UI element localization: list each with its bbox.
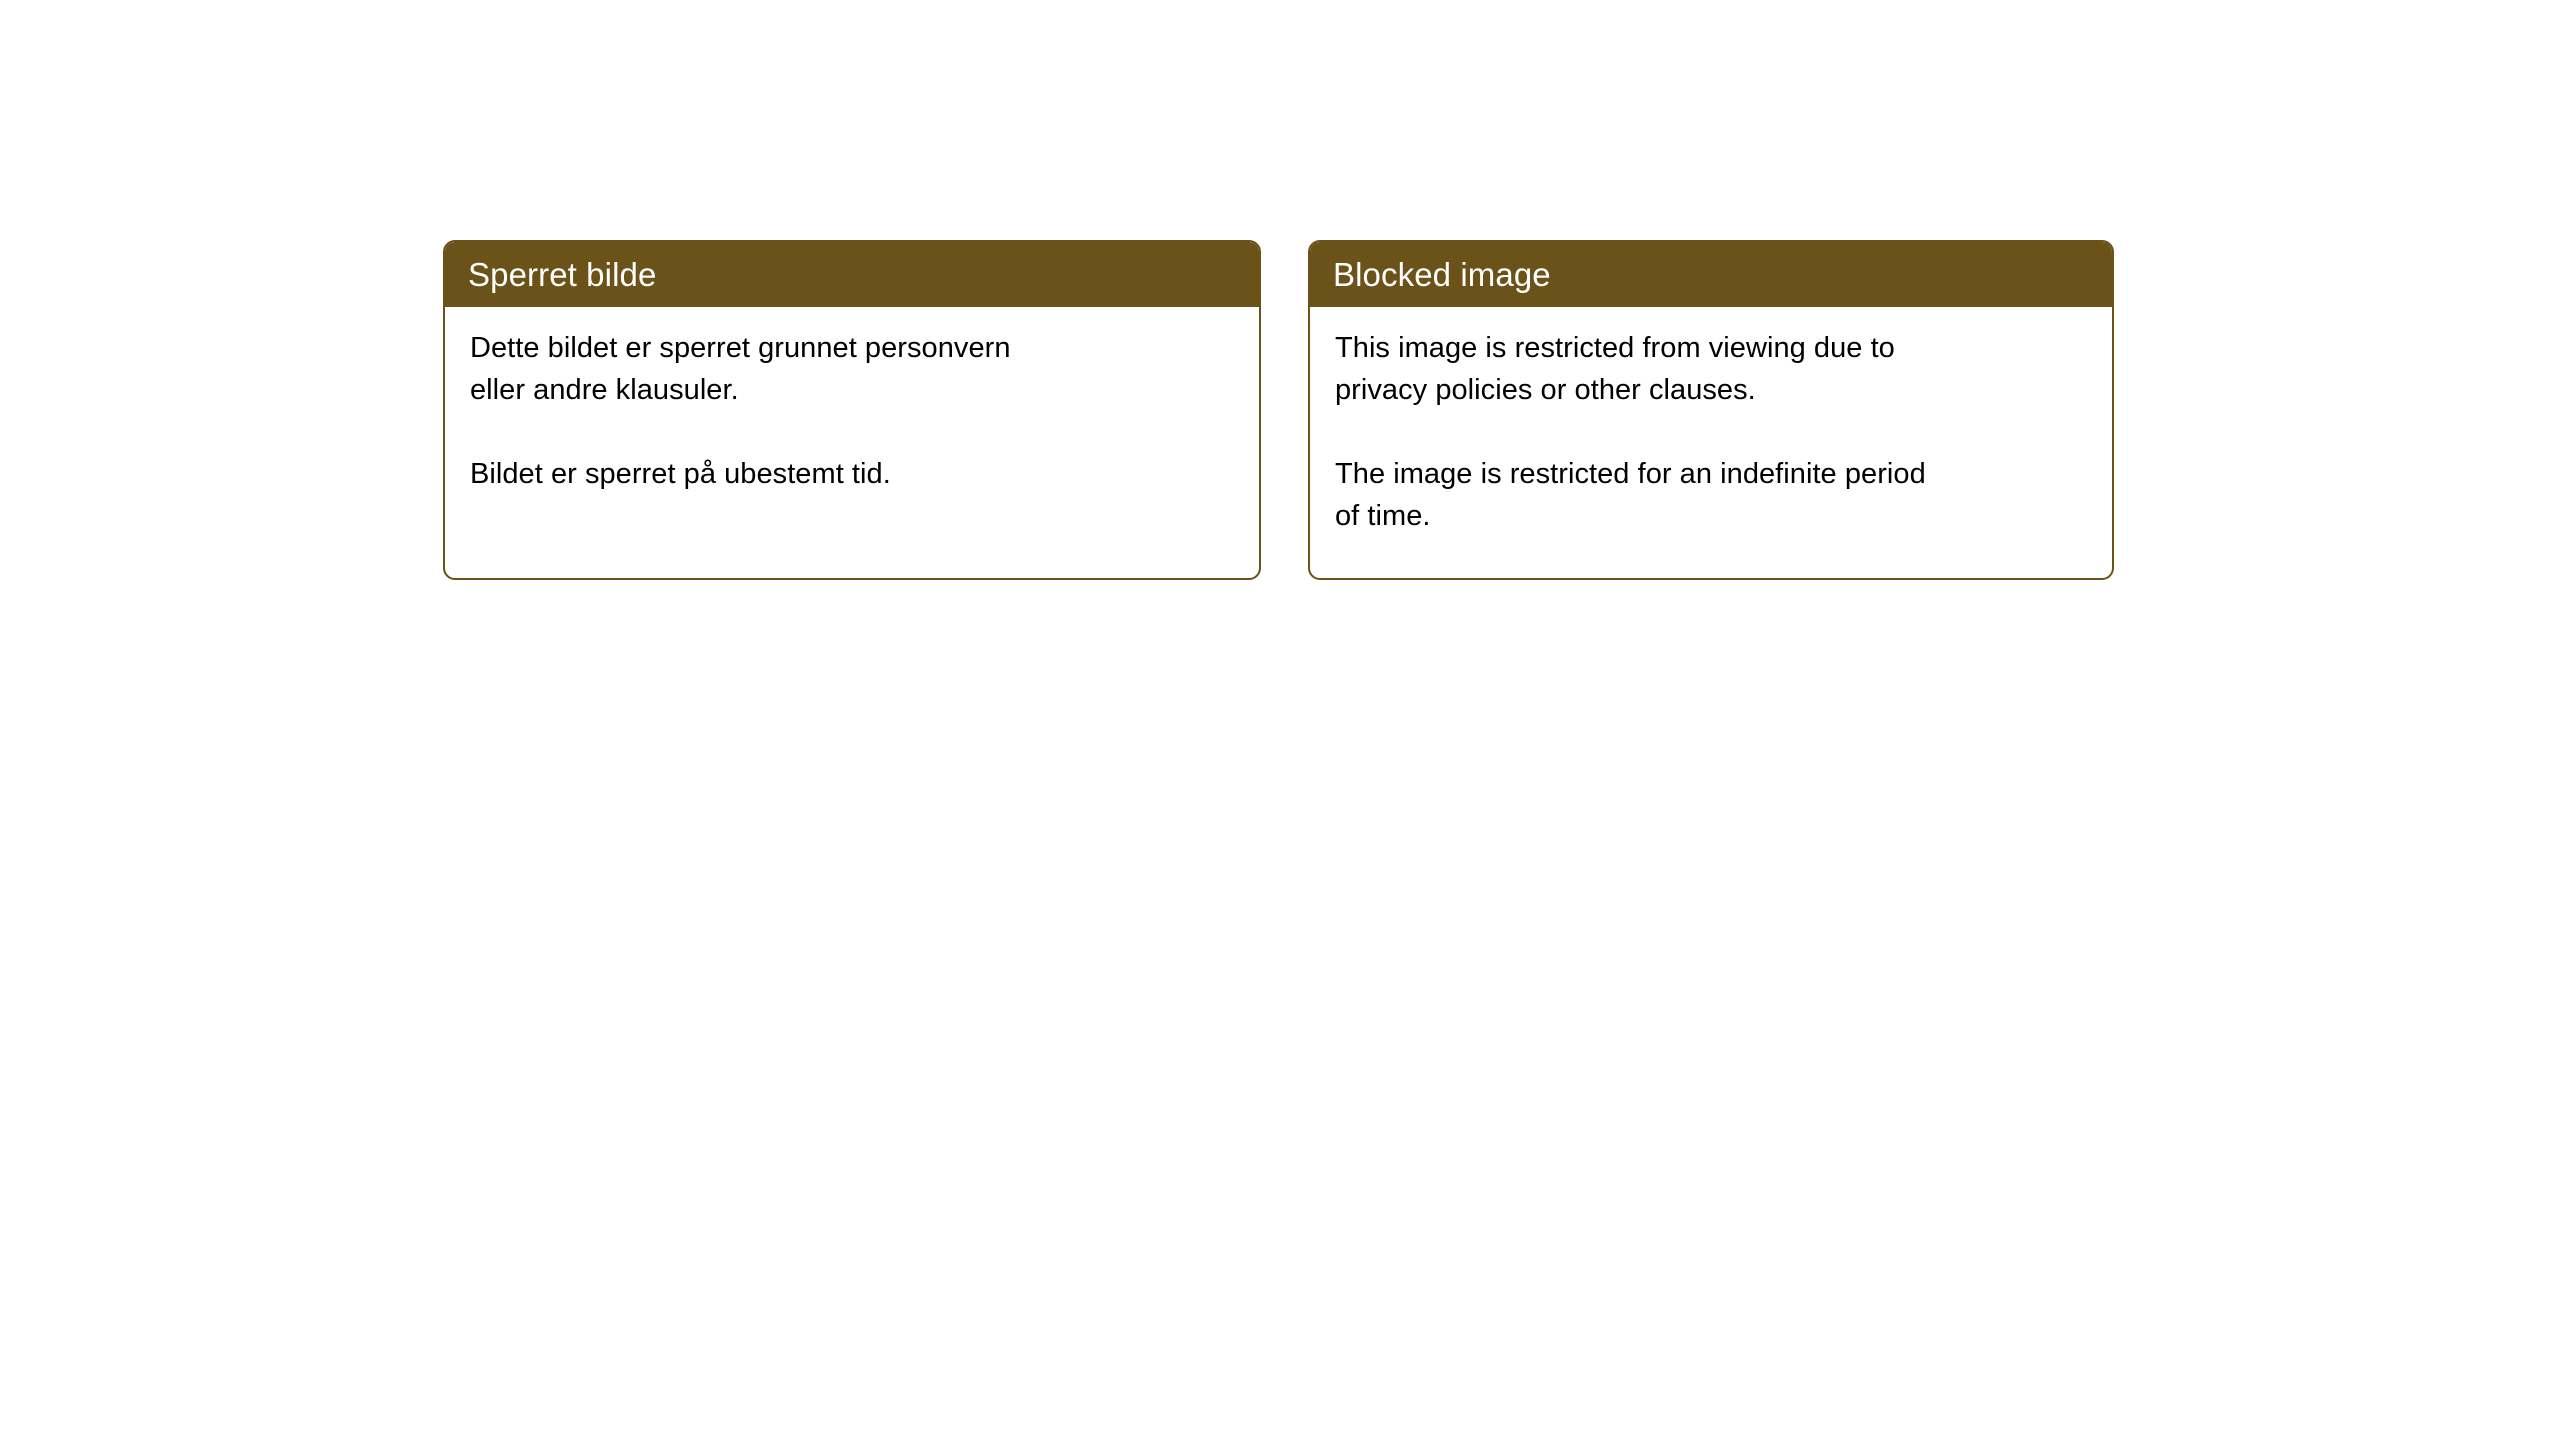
blocked-image-notice-card-norwegian: Sperret bilde Dette bildet er sperret gr… xyxy=(443,240,1261,580)
page-root: Sperret bilde Dette bildet er sperret gr… xyxy=(0,0,2560,1440)
card-body: Dette bildet er sperret grunnet personve… xyxy=(445,307,1259,495)
card-paragraph-duration: Bildet er sperret på ubestemt tid. xyxy=(470,453,1070,495)
card-body: This image is restricted from viewing du… xyxy=(1310,307,2112,537)
card-title: Sperret bilde xyxy=(468,258,656,291)
card-title: Blocked image xyxy=(1333,258,1551,291)
card-header: Sperret bilde xyxy=(445,242,1259,307)
card-paragraph-reason: This image is restricted from viewing du… xyxy=(1335,327,1935,411)
blocked-image-notice-card-english: Blocked image This image is restricted f… xyxy=(1308,240,2114,580)
card-header: Blocked image xyxy=(1310,242,2112,307)
card-paragraph-duration: The image is restricted for an indefinit… xyxy=(1335,453,1935,537)
card-paragraph-reason: Dette bildet er sperret grunnet personve… xyxy=(470,327,1070,411)
